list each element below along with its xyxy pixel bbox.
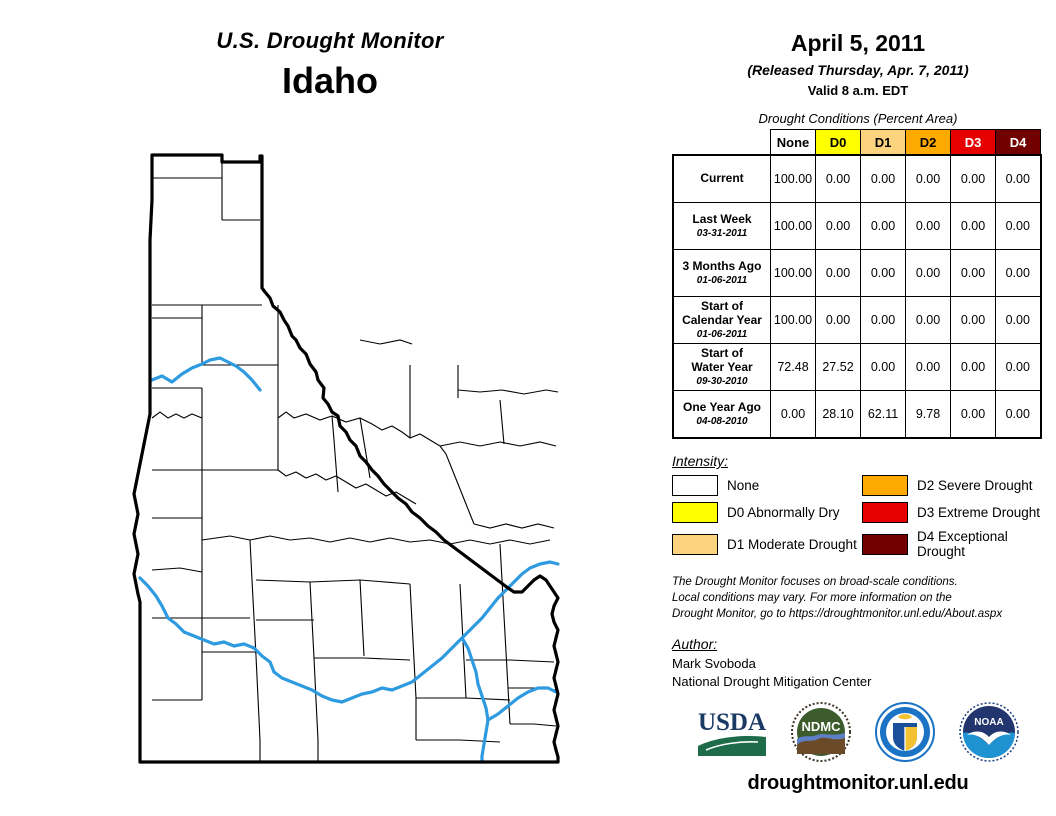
table-col-header-d1: D1: [861, 130, 906, 156]
legend-swatch-d1: [672, 534, 718, 555]
table-cell-d4: 0.00: [996, 344, 1041, 391]
report-date: April 5, 2011: [660, 30, 1056, 57]
table-cell-d0: 27.52: [816, 344, 861, 391]
table-caption: Drought Conditions (Percent Area): [660, 111, 1056, 126]
disclaimer-text: The Drought Monitor focuses on broad-sca…: [672, 575, 1056, 623]
legend-swatch-d3: [862, 502, 908, 523]
table-cell-d0: 0.00: [816, 203, 861, 250]
row-label-date: 01-06-2011: [674, 329, 770, 341]
table-col-header-none: None: [771, 130, 816, 156]
legend-label-d4: D4 Exceptional Drought: [917, 529, 1056, 559]
table-cell-d3: 0.00: [951, 203, 996, 250]
left-title-block: U.S. Drought Monitor Idaho: [0, 28, 660, 102]
legend-label-d2: D2 Severe Drought: [917, 478, 1033, 493]
table-cell-none: 100.00: [771, 250, 816, 297]
table-row: One Year Ago04-08-20100.0028.1062.119.78…: [673, 391, 1041, 439]
table-cell-none: 100.00: [771, 203, 816, 250]
table-corner-cell: [673, 130, 771, 156]
table-col-header-d0: D0: [816, 130, 861, 156]
table-cell-d2: 0.00: [906, 250, 951, 297]
legend-item-d4: D4 Exceptional Drought: [862, 529, 1056, 559]
table-cell-d2: 0.00: [906, 297, 951, 344]
author-name: Mark Svoboda: [672, 655, 1056, 673]
table-cell-d1: 0.00: [861, 344, 906, 391]
valid-time: Valid 8 a.m. EDT: [660, 83, 1056, 98]
table-body: Current100.000.000.000.000.000.00Last We…: [673, 155, 1041, 438]
table-row: Last Week03-31-2011100.000.000.000.000.0…: [673, 203, 1041, 250]
table-header: NoneD0D1D2D3D4: [673, 130, 1041, 156]
table-cell-d0: 0.00: [816, 155, 861, 203]
noaa-logo: NOAA: [958, 701, 1020, 763]
table-cell-d3: 0.00: [951, 391, 996, 439]
legend-item-d1: D1 Moderate Drought: [672, 529, 862, 559]
legend-label-d0: D0 Abnormally Dry: [727, 505, 840, 520]
row-label: Last Week03-31-2011: [673, 203, 771, 250]
author-title: Author:: [672, 636, 1056, 652]
table-cell-none: 72.48: [771, 344, 816, 391]
row-label: Start ofCalendar Year01-06-2011: [673, 297, 771, 344]
table-cell-d3: 0.00: [951, 250, 996, 297]
legend-item-d2: D2 Severe Drought: [862, 475, 1056, 496]
row-label: 3 Months Ago01-06-2011: [673, 250, 771, 297]
row-label-date: 01-06-2011: [674, 275, 770, 287]
table-cell-d1: 0.00: [861, 155, 906, 203]
table-cell-d2: 0.00: [906, 203, 951, 250]
table-cell-d2: 0.00: [906, 344, 951, 391]
table-cell-d1: 62.11: [861, 391, 906, 439]
intensity-title: Intensity:: [672, 453, 1056, 469]
disclaimer-line-1: The Drought Monitor focuses on broad-sca…: [672, 575, 1056, 591]
table-cell-none: 0.00: [771, 391, 816, 439]
commerce-seal: [874, 701, 936, 763]
table-cell-none: 100.00: [771, 155, 816, 203]
author-organization: National Drought Mitigation Center: [672, 673, 1056, 691]
table-cell-d0: 28.10: [816, 391, 861, 439]
legend-swatch-none: [672, 475, 718, 496]
table-cell-d2: 9.78: [906, 391, 951, 439]
legend-label-d1: D1 Moderate Drought: [727, 537, 857, 552]
table-cell-d0: 0.00: [816, 250, 861, 297]
date-block: April 5, 2011 (Released Thursday, Apr. 7…: [660, 0, 1056, 98]
row-label-date: 04-08-2010: [674, 416, 770, 428]
row-label: One Year Ago04-08-2010: [673, 391, 771, 439]
table-row: Start ofCalendar Year01-06-2011100.000.0…: [673, 297, 1041, 344]
idaho-state-fill: [134, 155, 558, 762]
svg-text:USDA: USDA: [698, 709, 766, 736]
ndmc-logo: NDMC: [790, 701, 852, 763]
table-cell-d1: 0.00: [861, 203, 906, 250]
row-label-date: 03-31-2011: [674, 228, 770, 240]
table-cell-d3: 0.00: [951, 155, 996, 203]
svg-text:NDMC: NDMC: [802, 719, 842, 734]
row-label-date: 09-30-2010: [674, 376, 770, 388]
svg-text:NOAA: NOAA: [974, 717, 1003, 728]
legend-grid: NoneD2 Severe DroughtD0 Abnormally DryD3…: [672, 475, 1056, 559]
table-col-header-d3: D3: [951, 130, 996, 156]
table-cell-d3: 0.00: [951, 344, 996, 391]
legend-item-d0: D0 Abnormally Dry: [672, 502, 862, 523]
program-title: U.S. Drought Monitor: [0, 28, 660, 54]
table-row: Start ofWater Year09-30-201072.4827.520.…: [673, 344, 1041, 391]
usda-logo: USDA: [696, 706, 768, 758]
table-cell-d4: 0.00: [996, 203, 1041, 250]
intensity-legend: Intensity: NoneD2 Severe DroughtD0 Abnor…: [672, 453, 1056, 559]
table-row: 3 Months Ago01-06-2011100.000.000.000.00…: [673, 250, 1041, 297]
legend-swatch-d0: [672, 502, 718, 523]
table-header-row: NoneD0D1D2D3D4: [673, 130, 1041, 156]
legend-swatch-d2: [862, 475, 908, 496]
table-cell-d4: 0.00: [996, 155, 1041, 203]
table-cell-d1: 0.00: [861, 297, 906, 344]
row-label: Start ofWater Year09-30-2010: [673, 344, 771, 391]
legend-label-none: None: [727, 478, 759, 493]
table-row: Current100.000.000.000.000.000.00: [673, 155, 1041, 203]
logo-row: USDA NDMC: [660, 692, 1056, 772]
table-cell-d4: 0.00: [996, 391, 1041, 439]
right-info-panel: April 5, 2011 (Released Thursday, Apr. 7…: [660, 0, 1056, 816]
legend-item-none: None: [672, 475, 862, 496]
legend-item-d3: D3 Extreme Drought: [862, 502, 1056, 523]
row-label: Current: [673, 155, 771, 203]
disclaimer-line-2: Local conditions may vary. For more info…: [672, 591, 1056, 607]
table-cell-none: 100.00: [771, 297, 816, 344]
table-col-header-d2: D2: [906, 130, 951, 156]
table-cell-d2: 0.00: [906, 155, 951, 203]
table-cell-d0: 0.00: [816, 297, 861, 344]
legend-swatch-d4: [862, 534, 908, 555]
release-date: (Released Thursday, Apr. 7, 2011): [660, 62, 1056, 78]
table-col-header-d4: D4: [996, 130, 1041, 156]
idaho-drought-map: [110, 140, 610, 790]
table-cell-d1: 0.00: [861, 250, 906, 297]
idaho-map-svg: [110, 140, 610, 790]
legend-label-d3: D3 Extreme Drought: [917, 505, 1040, 520]
table-cell-d4: 0.00: [996, 297, 1041, 344]
state-title: Idaho: [0, 60, 660, 102]
disclaimer-line-3: Drought Monitor, go to https://droughtmo…: [672, 607, 1056, 623]
drought-conditions-table: NoneD0D1D2D3D4 Current100.000.000.000.00…: [672, 129, 1042, 439]
table-cell-d3: 0.00: [951, 297, 996, 344]
author-block: Author: Mark Svoboda National Drought Mi…: [672, 636, 1056, 692]
site-url: droughtmonitor.unl.edu: [660, 772, 1056, 795]
table-cell-d4: 0.00: [996, 250, 1041, 297]
